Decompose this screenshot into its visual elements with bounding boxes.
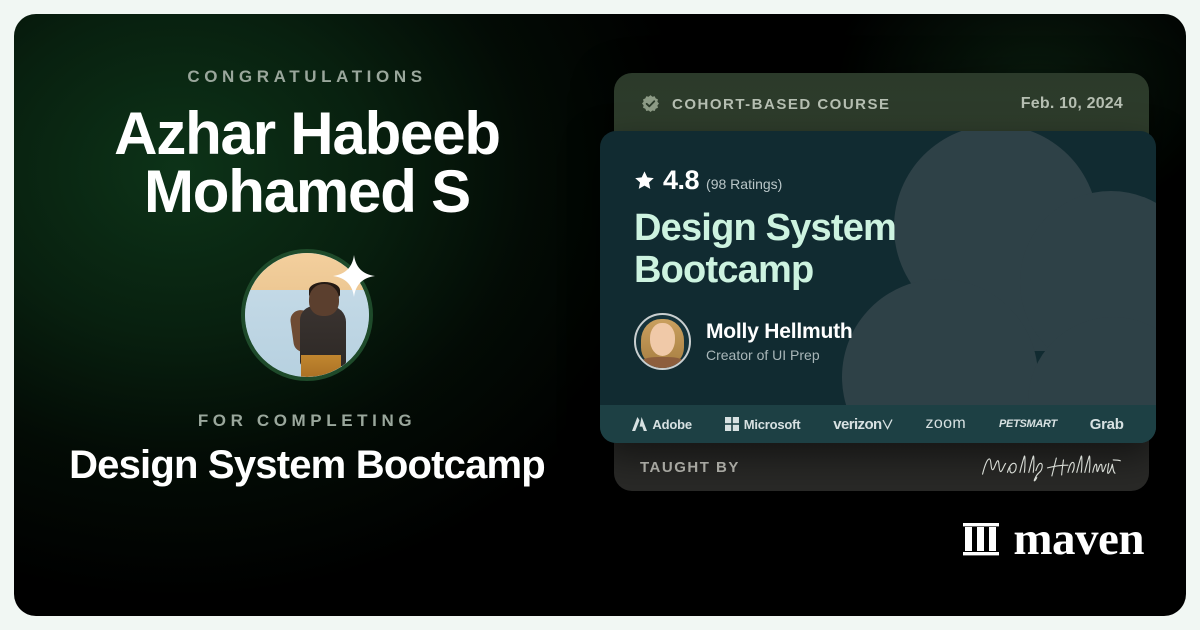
rating-count: (98 Ratings) (706, 176, 782, 192)
logo-zoom: zoom (925, 415, 966, 433)
logo-label: zoom (925, 415, 966, 433)
recipient-avatar (241, 249, 373, 381)
logo-verizon: verizon (833, 416, 892, 433)
instructor-role: Creator of UI Prep (706, 347, 853, 363)
instructor-name: Molly Hellmuth (706, 320, 853, 344)
avatar-photo (245, 253, 369, 377)
logo-label: verizon (833, 416, 881, 433)
logo-adobe: Adobe (632, 417, 691, 432)
certificate-left-column: CONGRATULATIONS Azhar Habeeb Mohamed S F… (14, 14, 600, 616)
course-card-title: Design System Bootcamp (634, 207, 964, 291)
instructor-avatar (634, 313, 691, 370)
company-logo-strip: Adobe Microsoft verizon (600, 405, 1156, 443)
verizon-check-icon (882, 419, 893, 430)
adobe-icon (632, 417, 647, 431)
logo-label: PETSMART (999, 418, 1057, 430)
logo-label: Grab (1090, 416, 1124, 433)
star-icon (634, 170, 655, 191)
maven-column-icon (961, 519, 1001, 559)
logo-grab: Grab (1090, 416, 1124, 433)
logo-petsmart: PETSMART (999, 418, 1057, 430)
for-completing-label: FOR COMPLETING (198, 411, 416, 431)
course-card-date: Feb. 10, 2024 (1021, 95, 1123, 113)
instructor-row: Molly Hellmuth Creator of UI Prep (634, 313, 964, 370)
microsoft-icon (725, 417, 739, 431)
course-name: Design System Bootcamp (69, 443, 545, 488)
congratulations-label: CONGRATULATIONS (187, 67, 426, 87)
course-card-kicker: COHORT-BASED COURSE (672, 96, 891, 113)
avatar-ring (241, 249, 373, 381)
verified-badge-icon (640, 94, 661, 115)
course-card-body: 4.8 (98 Ratings) Design System Bootcamp … (600, 131, 964, 370)
rating-row: 4.8 (98 Ratings) (634, 165, 964, 196)
maven-wordmark: maven (1013, 517, 1144, 561)
certificate-panel: CONGRATULATIONS Azhar Habeeb Mohamed S F… (14, 14, 1186, 616)
rating-value: 4.8 (663, 165, 699, 196)
course-card-header: COHORT-BASED COURSE Feb. 10, 2024 (614, 73, 1149, 135)
logo-microsoft: Microsoft (725, 417, 801, 432)
maven-brand-logo: maven (961, 517, 1144, 561)
recipient-name: Azhar Habeeb Mohamed S (47, 105, 567, 221)
course-card-footer: TAUGHT BY (614, 443, 1149, 491)
taught-by-label: TAUGHT BY (640, 459, 740, 476)
logo-label: Adobe (652, 417, 691, 432)
logo-label: Microsoft (744, 417, 801, 432)
instructor-signature (979, 451, 1123, 483)
course-card-inner: 4.8 (98 Ratings) Design System Bootcamp … (600, 131, 1156, 443)
